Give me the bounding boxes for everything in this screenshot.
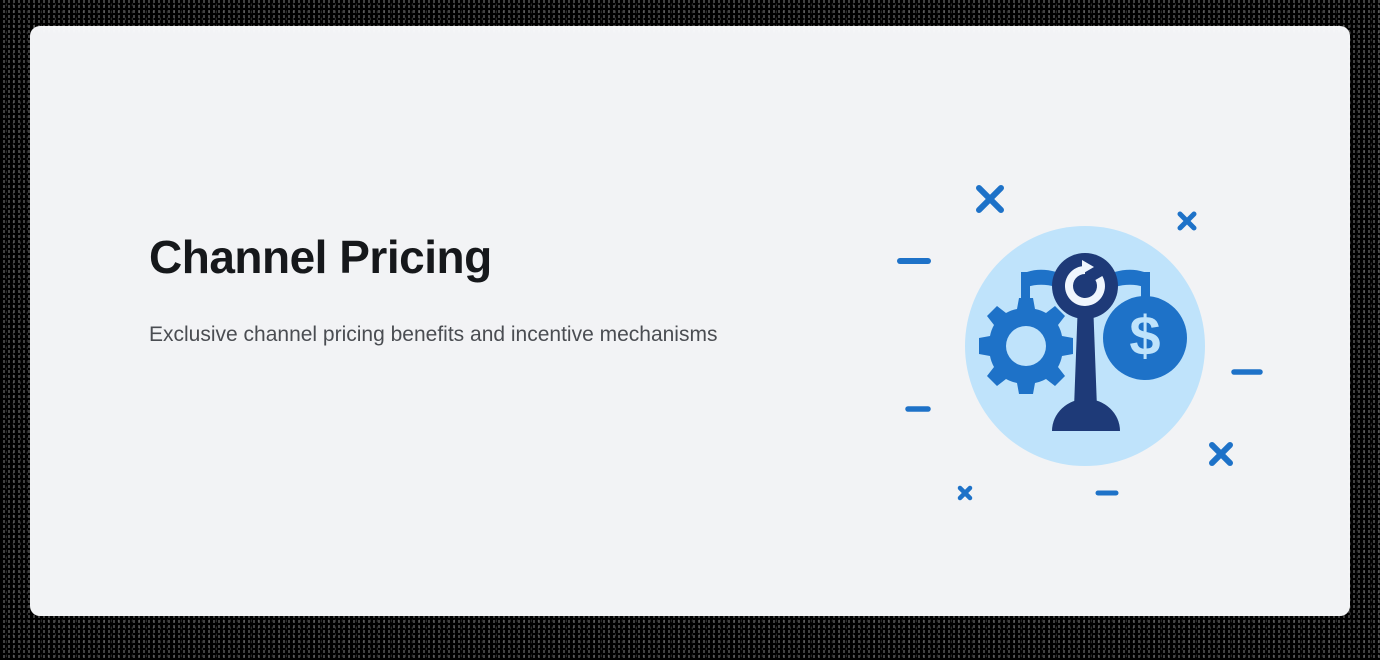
- gear-icon: [979, 298, 1073, 394]
- sync-refresh-icon: [1052, 253, 1118, 319]
- deco-x-2: [1180, 214, 1194, 228]
- page-subtitle: Exclusive channel pricing benefits and i…: [149, 314, 719, 356]
- deco-x-1: [979, 188, 1001, 210]
- hero-text-block: Channel Pricing Exclusive channel pricin…: [149, 232, 749, 356]
- page-title: Channel Pricing: [149, 232, 749, 283]
- balance-scale-pricing-illustration: $: [890, 146, 1290, 536]
- deco-x-3: [1212, 445, 1230, 463]
- page-frame: Channel Pricing Exclusive channel pricin…: [0, 0, 1380, 660]
- svg-text:$: $: [1129, 304, 1160, 367]
- hero-card: Channel Pricing Exclusive channel pricin…: [30, 26, 1350, 616]
- deco-x-4: [960, 488, 970, 498]
- dollar-coin-icon: $: [1103, 296, 1187, 380]
